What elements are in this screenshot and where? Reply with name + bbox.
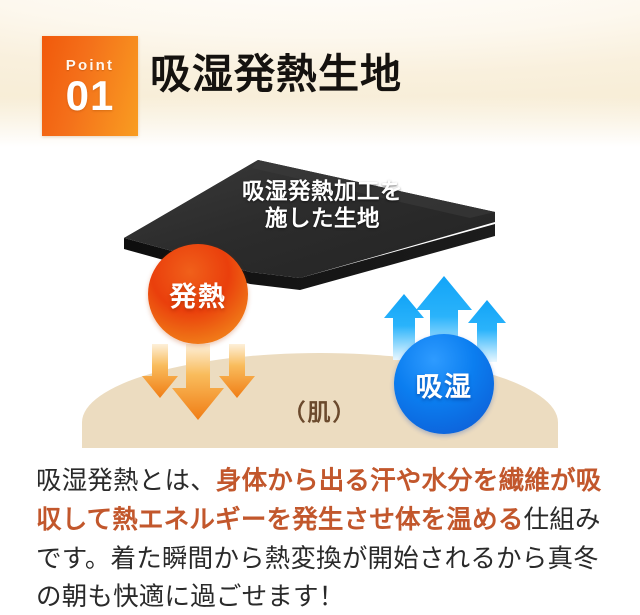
heat-arrows [0,148,640,448]
page-title: 吸湿発熱生地 [150,52,402,97]
illustration-panel: （肌） [0,148,640,448]
heat-bubble-label: 発熱 [170,275,227,314]
point-badge-label: Point [66,58,115,73]
heat-bubble: 発熱 [148,244,248,344]
body-segment-1: 吸湿発熱とは、 [36,466,216,495]
point-badge-number: 01 [66,75,115,117]
body-paragraph: 吸湿発熱とは、身体から出る汗や水分を繊維が吸収して熱エネルギーを発生させ体を温め… [36,462,616,615]
moisture-bubble: 吸湿 [394,334,494,434]
moisture-bubble-label: 吸湿 [416,365,473,404]
header: Point 01 吸湿発熱生地 [0,0,640,150]
point-badge: Point 01 [42,36,138,136]
page-stage: Point 01 吸湿発熱生地 （肌） [0,0,640,615]
